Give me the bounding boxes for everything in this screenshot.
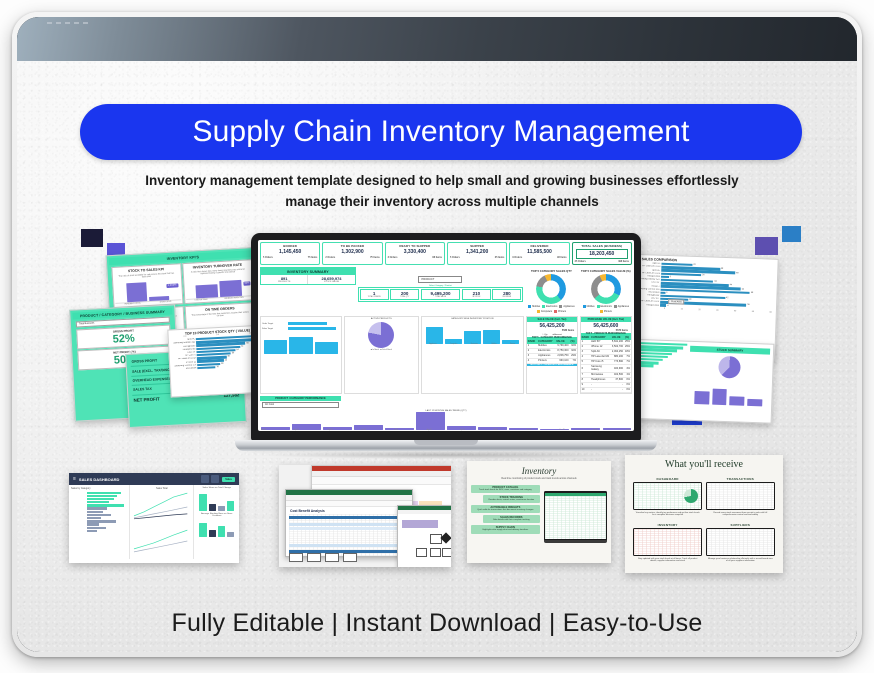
thumbnail-sales-dashboard[interactable]: ≡ SALES DASHBOARD Sales Sales by Categor… bbox=[69, 473, 239, 563]
wyr-quadrant-suppliers: SUPPLIERS Manage your business relations… bbox=[706, 523, 776, 563]
kpi-label: SHIPPED bbox=[448, 244, 506, 248]
profit-row-label: NET PROFIT bbox=[133, 396, 159, 402]
gauge-label: Order Target bbox=[262, 323, 287, 325]
decor-square-blue bbox=[782, 226, 801, 242]
strip-label: REORDER bbox=[493, 296, 520, 298]
kpi-bar-label: COST OF SALE bbox=[195, 299, 208, 302]
strip-label: TOTAL VALUE bbox=[422, 296, 460, 298]
table-row: 4Printers660,1007% bbox=[527, 358, 577, 363]
active-products-title: ACTIVE PRODUCTS bbox=[346, 318, 417, 320]
device-topbar bbox=[17, 17, 857, 62]
inventory-card-title: Inventory bbox=[467, 461, 611, 476]
purchase-value-amount: 56,425,600 bbox=[581, 322, 631, 330]
kpi-card-to-be-packed[interactable]: TO BE PACKED 1,302,900 2 Orders75 Items bbox=[322, 242, 382, 265]
filter-icon[interactable] bbox=[201, 475, 209, 483]
kpi-value: 1,341,200 bbox=[448, 249, 506, 255]
kpi-value: 1,302,900 bbox=[323, 249, 381, 255]
kpi-badge: 53% bbox=[243, 281, 250, 285]
category-value-legend: Mobiles Electronics Appliances Printers bbox=[580, 304, 632, 314]
poster-canvas: Supply Chain Inventory Management Invent… bbox=[0, 0, 874, 673]
kpi-value: 1,145,450 bbox=[261, 249, 319, 255]
decor-square-purple bbox=[755, 237, 778, 255]
profit-row-label: SALES TAX bbox=[133, 387, 152, 392]
kpi-bar-label: STOCK SOLD bbox=[160, 301, 172, 304]
category-qty-donut bbox=[536, 274, 566, 304]
table-row: 10--0% bbox=[581, 387, 631, 392]
stock-summary-title: STOCK SUMMARY bbox=[690, 346, 770, 355]
topbar-speaker-grille bbox=[47, 22, 88, 24]
inventory-summary-title: INVENTORY SUMMARY bbox=[261, 268, 355, 275]
inventory-feature-box: STOCK TRACKING Reorder alerts, restock n… bbox=[483, 495, 540, 504]
laptop-mockup: BOOKED 1,145,450 5 Orders75 Items TO BE … bbox=[251, 233, 641, 461]
what-you-receive-card: What you'll receive DASHBOARD Visualise … bbox=[625, 455, 783, 573]
kpi-card-total-sales[interactable]: TOTAL SALES (BUSINESS) 18,203,450 25 Ord… bbox=[572, 242, 632, 265]
wyr-title: What you'll receive bbox=[625, 455, 783, 470]
wyr-quadrant-inventory: INVENTORY Stay updated with your stock l… bbox=[633, 523, 703, 563]
kpi-label: TOTAL SALES (BUSINESS) bbox=[573, 244, 631, 248]
strip-label: TOTAL ORDERS bbox=[361, 296, 388, 298]
inventory-feature-box: SALES RECORDS Sale details with their co… bbox=[483, 515, 540, 524]
stock-bar-chart bbox=[688, 382, 769, 407]
kpi-label: READY TO SHIPPED bbox=[386, 244, 444, 248]
sales-by-category-label: Sales by Category bbox=[71, 487, 127, 490]
thumbnail-what-you-receive[interactable]: What you'll receive DASHBOARD Visualise … bbox=[625, 455, 783, 573]
menu-icon[interactable]: ≡ bbox=[73, 476, 76, 482]
share-chart-title: Sales Share on Total Change bbox=[196, 487, 237, 489]
laptop-notch bbox=[414, 440, 478, 445]
sales-line-chart-2 bbox=[132, 525, 191, 555]
subheadline: Inventory management template designed t… bbox=[137, 171, 747, 213]
laptop-screen: BOOKED 1,145,450 5 Orders75 Items TO BE … bbox=[258, 240, 634, 431]
profit-row-label: OVERHEAD EXPENSES bbox=[132, 377, 171, 383]
inv-stock-label: STOCK VALUE bbox=[308, 281, 354, 283]
inventory-feature-box: ACTIONABLE INSIGHTS Quick edits for tran… bbox=[471, 505, 540, 514]
top-category-performance-table: RANK CATEGORY VALUE (%) 1Mobiles9,790,40… bbox=[527, 339, 577, 363]
active-products-pie bbox=[368, 322, 394, 348]
device-frame: Supply Chain Inventory Management Invent… bbox=[12, 12, 862, 657]
kpi-card-delivered[interactable]: DELIVERED 11,585,500 9 Orders93 Items bbox=[509, 242, 569, 265]
laptop-base bbox=[235, 440, 657, 451]
laptop-lid: BOOKED 1,145,450 5 Orders75 Items TO BE … bbox=[251, 233, 641, 441]
profit-row-label: GROSS PROFIT bbox=[131, 359, 157, 364]
profit-row-label: SALE (EXCL. TAX/DISC) bbox=[132, 367, 171, 373]
dashboard-kpi-row: BOOKED 1,145,450 5 Orders75 Items TO BE … bbox=[258, 240, 634, 267]
page-title: Supply Chain Inventory Management bbox=[193, 115, 690, 149]
thumbnail-inventory-card[interactable]: Inventory Real time monitoring of produc… bbox=[467, 461, 611, 563]
wyr-quadrant-transactions: TRANSACTIONS Record every stock movement… bbox=[706, 477, 776, 517]
pivot-area-tooltip: Pivot Area bbox=[668, 299, 685, 305]
sales-line-chart bbox=[132, 490, 191, 520]
bottom-category-perf-title: BOTTOM 5 - CATEGORY PERFORMANCE bbox=[527, 364, 577, 366]
laptop-shadow bbox=[261, 451, 631, 459]
sale-value-amount: 56,425,200 bbox=[527, 322, 577, 330]
kpi-card-booked[interactable]: BOOKED 1,145,450 5 Orders75 Items bbox=[260, 242, 320, 265]
kpi-badge: 1,210% bbox=[166, 283, 178, 288]
device-bezel: Supply Chain Inventory Management Invent… bbox=[17, 17, 857, 652]
kpi-bar-label: AVERAGE INVENTORY bbox=[224, 297, 244, 300]
product-filter-select[interactable]: PRODUCT bbox=[418, 276, 462, 283]
kpi-value: 3,330,400 bbox=[386, 249, 444, 255]
sales-dashboard-header: ≡ SALES DASHBOARD Sales bbox=[69, 473, 239, 485]
product-category-perf-title: PRODUCT / CATEGORY PERFORMANCE bbox=[260, 396, 341, 401]
thumbnail-sipoc[interactable]: Single Process SIPOC bbox=[279, 465, 451, 567]
export-icon[interactable] bbox=[211, 475, 219, 483]
gauge-label: Sales Target bbox=[262, 328, 287, 330]
toggle-qty[interactable]: ○ Qty bbox=[542, 334, 547, 336]
inv-products-label: PRODUCTS bbox=[261, 281, 307, 283]
cost-benefit-title: Cost Benefit Analysis bbox=[286, 507, 412, 514]
inventory-feature-box: SUPPLY CHAIN Highlights who supply what … bbox=[471, 525, 540, 534]
sales-dashboard-title: SALES DASHBOARD bbox=[79, 477, 119, 482]
category-value-donut bbox=[591, 274, 621, 304]
strip-label: TOTAL QTY bbox=[391, 296, 418, 298]
strip-label: IN STOCK bbox=[463, 296, 490, 298]
kpi-label: BOOKED bbox=[261, 244, 319, 248]
top-category-value-title: TOP 5 CATEGORY SALES VALUE (%) bbox=[580, 267, 632, 274]
inventory-card: Inventory Real time monitoring of produc… bbox=[467, 461, 611, 563]
top-category-qty-title: TOP 5 CATEGORY SALES QTY bbox=[525, 267, 577, 274]
top-products-performance-table: RANK CATEGORY VALUE (%) 1LED 50"5,841,20… bbox=[581, 335, 631, 392]
active-products-legend: ■ In Stock ■ Out of Stock bbox=[346, 349, 417, 351]
kpi-label: DELIVERED bbox=[510, 244, 568, 248]
tagline: Fully Editable | Instant Download | Easy… bbox=[17, 609, 857, 638]
gauge-panel-title bbox=[262, 318, 340, 320]
kpi-card-shipped[interactable]: SHIPPED 1,341,200 5 Orders35 Items bbox=[447, 242, 507, 265]
toggle-amount[interactable]: ● Amount bbox=[552, 334, 561, 336]
kpi-bar-label: AVAILABLE STOCK bbox=[124, 303, 140, 306]
category-perf-select[interactable]: AC Cool bbox=[262, 402, 339, 409]
dashboard-badge: Sales bbox=[222, 477, 235, 482]
sales-trend-chart bbox=[261, 412, 631, 430]
kpi-card-ready-to-ship[interactable]: READY TO SHIPPED 3,330,400 3 Orders88 It… bbox=[385, 242, 445, 265]
headline-banner: Supply Chain Inventory Management bbox=[80, 104, 802, 160]
wyr-quadrant-dashboard: DASHBOARD Visualise key metrics, identif… bbox=[633, 477, 703, 517]
stock-donut-chart bbox=[718, 356, 741, 379]
kpi-value: 11,585,500 bbox=[510, 249, 568, 255]
decor-square-navy bbox=[81, 229, 103, 247]
category-qty-legend: Mobiles Electronics Appliances Computers… bbox=[525, 304, 577, 314]
inventory-feature-box: PRODUCT CATALOG Track stock levels for S… bbox=[471, 485, 540, 494]
poster-screen: Supply Chain Inventory Management Invent… bbox=[17, 61, 857, 652]
kpi-value: 18,203,450 bbox=[576, 249, 628, 259]
kpi-label: TO BE PACKED bbox=[323, 244, 381, 248]
table-row: 6Samsung Galaxy400,9004% bbox=[581, 364, 631, 372]
